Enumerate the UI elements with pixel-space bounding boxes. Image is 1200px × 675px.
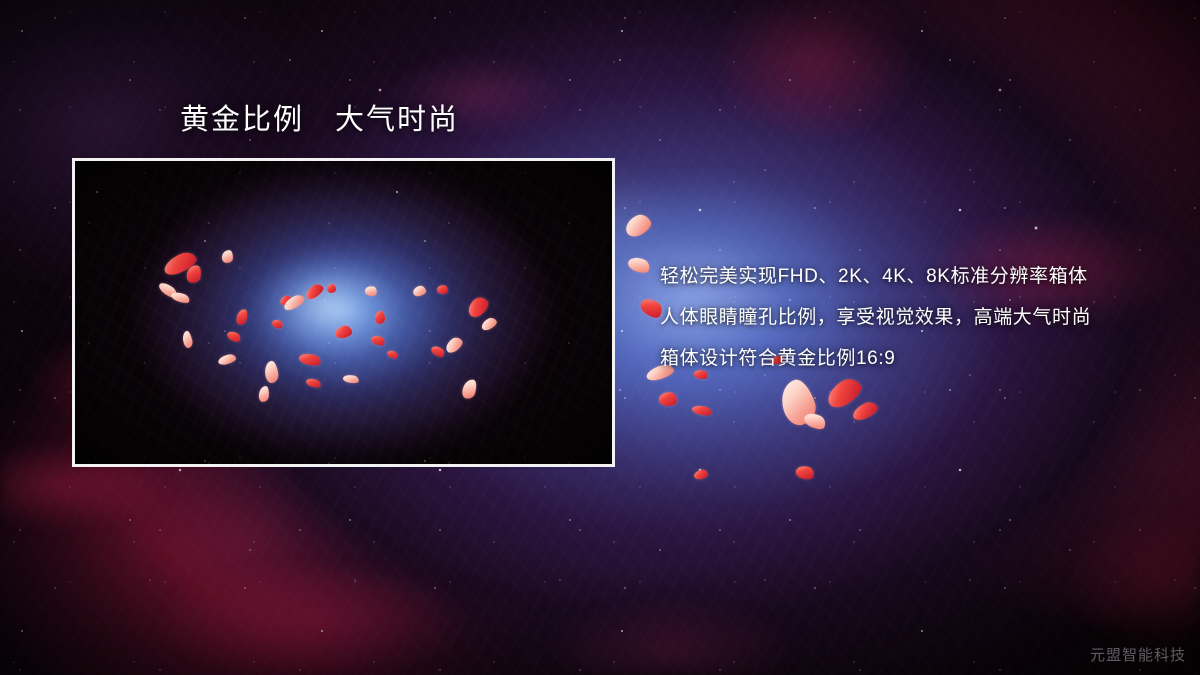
- flower-petal: [264, 360, 280, 384]
- flower-petal: [342, 374, 359, 385]
- feature-line-2: 人体眼睛瞳孔比例，享受视觉效果，高端大气时尚: [660, 297, 1180, 338]
- flower-petal: [850, 399, 879, 422]
- flower-petal: [305, 377, 322, 389]
- flower-petal: [626, 254, 652, 275]
- flower-petal: [412, 285, 427, 297]
- flower-petal: [443, 335, 465, 355]
- showcase-image: [75, 161, 612, 464]
- showcase-nebula-base: [75, 161, 612, 464]
- flower-petal: [217, 353, 237, 366]
- flower-petal: [334, 325, 353, 340]
- flower-petal: [170, 290, 191, 305]
- showcase-starfield-1: [75, 161, 612, 464]
- flower-petal: [271, 318, 284, 330]
- feature-line-3: 箱体设计符合黄金比例16:9: [660, 338, 1180, 379]
- presentation-slide: 黄金比例 大气时尚 轻松完美实现FHD、2K、4K、8K标准分辨率箱体 人体眼睛…: [0, 0, 1200, 675]
- flower-petal: [658, 391, 678, 407]
- flower-petal: [364, 285, 378, 298]
- flower-petal: [327, 284, 336, 293]
- flower-petal: [221, 250, 233, 264]
- page-title: 黄金比例 大气时尚: [180, 102, 459, 138]
- flower-petal: [304, 282, 326, 302]
- flower-petal: [436, 284, 448, 294]
- flower-petal: [226, 329, 243, 344]
- flower-petal: [374, 311, 385, 325]
- showcase-starfield-2: [75, 161, 612, 464]
- flower-petal: [794, 464, 815, 482]
- feature-line-1: 轻松完美实现FHD、2K、4K、8K标准分辨率箱体: [660, 256, 1180, 297]
- flower-petal: [480, 316, 499, 332]
- flower-petal: [430, 344, 447, 359]
- showcase-wisps: [75, 161, 612, 464]
- flower-petal: [460, 378, 478, 401]
- flower-petal: [298, 352, 322, 368]
- flower-petal: [693, 469, 708, 480]
- showcase-nebula-core: [75, 161, 612, 464]
- showcase-image-frame[interactable]: [72, 158, 615, 467]
- flower-petal: [235, 308, 249, 326]
- showcase-vignette: [75, 161, 612, 464]
- flower-petal: [386, 349, 399, 360]
- flower-petal: [370, 334, 386, 348]
- flower-petal: [181, 330, 193, 348]
- flower-petal: [622, 211, 654, 239]
- flower-petal: [258, 386, 270, 403]
- flower-petal: [691, 404, 713, 418]
- company-watermark: 元盟智能科技: [1090, 644, 1186, 665]
- feature-description-block: 轻松完美实现FHD、2K、4K、8K标准分辨率箱体 人体眼睛瞳孔比例，享受视觉效…: [660, 256, 1180, 379]
- flower-petal: [464, 294, 491, 320]
